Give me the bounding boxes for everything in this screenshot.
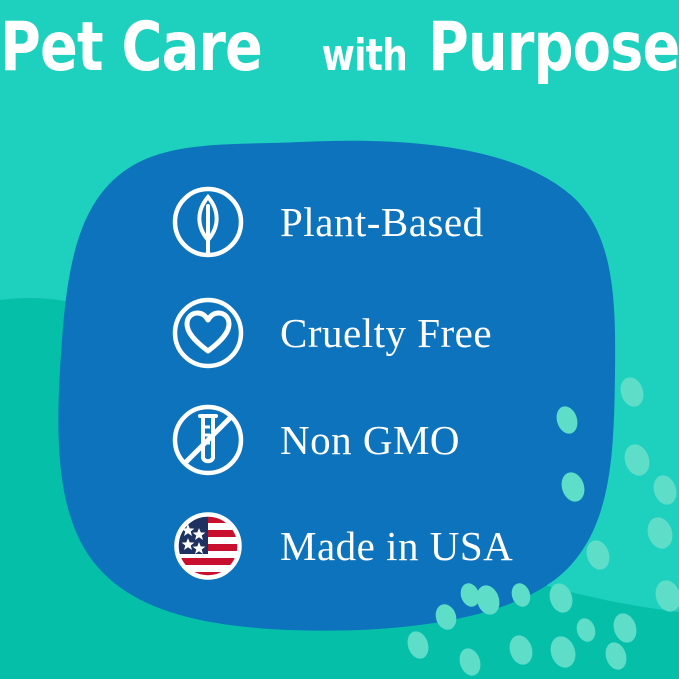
badge-non-gmo: Non GMO xyxy=(170,402,460,478)
badge-made-in-usa: Made in USA xyxy=(170,508,513,584)
feature-badge-list: Plant-Based Cruelty Free xyxy=(0,0,679,679)
no-test-tube-icon xyxy=(170,402,246,478)
badge-label-plant-based: Plant-Based xyxy=(280,202,484,243)
heart-icon xyxy=(170,295,246,371)
badge-label-non-gmo: Non GMO xyxy=(280,420,460,461)
usa-flag-icon xyxy=(170,508,246,584)
badge-plant-based: Plant-Based xyxy=(170,184,484,260)
leaf-icon xyxy=(170,184,246,260)
badge-cruelty-free: Cruelty Free xyxy=(170,295,492,371)
badge-label-cruelty-free: Cruelty Free xyxy=(280,313,492,354)
badge-label-made-in-usa: Made in USA xyxy=(280,526,513,567)
promo-graphic: Pet CarewithPurpose® Plant-Based Cruelty… xyxy=(0,0,679,679)
